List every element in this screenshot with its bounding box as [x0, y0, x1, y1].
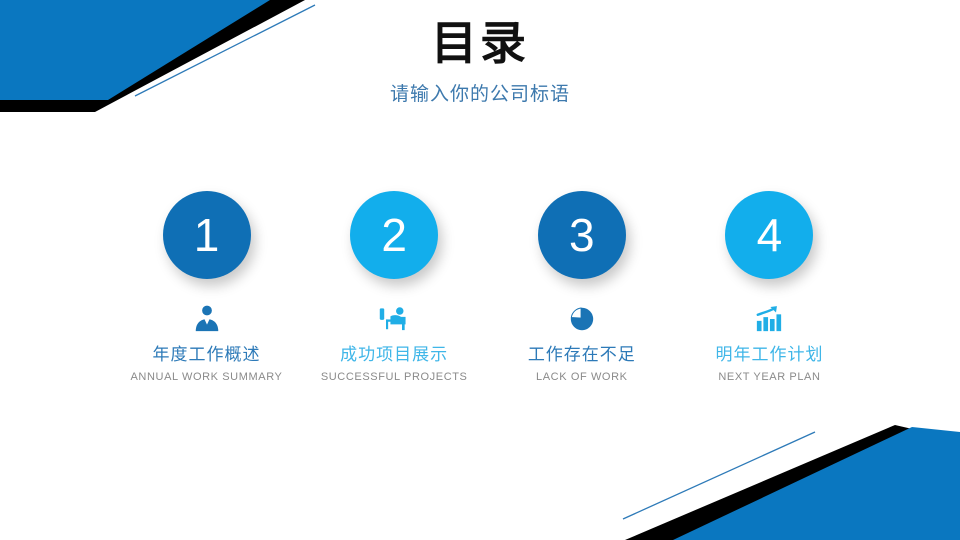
agenda-label-cn-3: 工作存在不足 — [528, 345, 636, 365]
slide-header: 目录 请输入你的公司标语 — [0, 18, 960, 106]
agenda-number-badge-1[interactable]: 1 — [163, 191, 251, 279]
bottom-right-black-band — [625, 425, 960, 540]
presentation-slide: 目录 请输入你的公司标语 1 年度工作概述 ANNUAL WORK SUMMAR… — [0, 0, 960, 540]
agenda-number-badge-2[interactable]: 2 — [350, 191, 438, 279]
agenda-label-cn-2: 成功项目展示 — [340, 345, 448, 365]
agenda-label-en-1: ANNUAL WORK SUMMARY — [131, 371, 283, 383]
page-title: 目录 — [0, 18, 960, 69]
bottom-right-thin-line — [623, 432, 815, 519]
agenda-label-en-2: SUCCESSFUL PROJECTS — [321, 371, 468, 383]
page-subtitle: 请输入你的公司标语 — [0, 79, 960, 106]
businessman-icon — [192, 303, 222, 333]
agenda-item-4[interactable]: 4 明年工作计划 NEXT YEAR PLAN — [676, 191, 863, 383]
bottom-right-blue-shape — [673, 427, 960, 540]
person-at-desk-icon — [378, 303, 410, 333]
agenda-item-2[interactable]: 2 成功项目展示 SUCCESSFUL PROJECTS — [301, 191, 488, 383]
agenda-number-badge-4[interactable]: 4 — [725, 191, 813, 279]
agenda-label-en-3: LACK OF WORK — [536, 371, 628, 383]
bar-chart-growth-icon — [754, 303, 784, 333]
agenda-items: 1 年度工作概述 ANNUAL WORK SUMMARY 2 — [113, 191, 863, 383]
pie-chart-icon — [568, 303, 596, 333]
agenda-label-cn-4: 明年工作计划 — [715, 345, 823, 365]
agenda-item-1[interactable]: 1 年度工作概述 ANNUAL WORK SUMMARY — [113, 191, 300, 383]
agenda-item-3[interactable]: 3 工作存在不足 LACK OF WORK — [488, 191, 675, 383]
agenda-label-en-4: NEXT YEAR PLAN — [718, 371, 820, 383]
agenda-number-badge-3[interactable]: 3 — [538, 191, 626, 279]
agenda-label-cn-1: 年度工作概述 — [153, 345, 261, 365]
